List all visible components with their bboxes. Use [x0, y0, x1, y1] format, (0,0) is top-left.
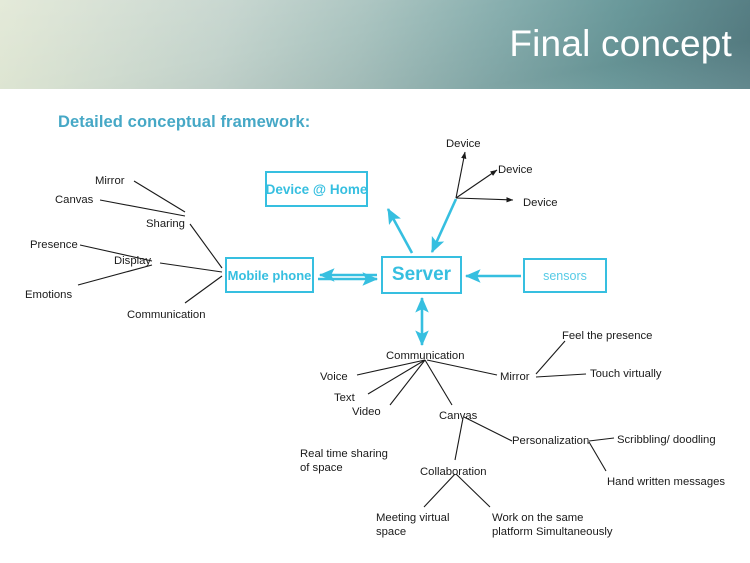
line-canvas-collab [455, 418, 463, 460]
line-display-mobile [160, 263, 222, 272]
label-voice: Voice [320, 371, 348, 385]
label-canvas-bottom: Canvas [439, 410, 477, 424]
label-communication-left: Communication [127, 309, 205, 323]
label-text: Text [334, 392, 355, 406]
label-work-same-platform: Work on the same platform Simultaneously [492, 512, 613, 539]
node-device-at-home[interactable]: Device @ Home [265, 171, 368, 207]
line-personalization-scribbling [589, 438, 614, 441]
label-display: Display [114, 255, 151, 269]
label-video: Video [352, 406, 381, 420]
label-communication-hub: Communication [386, 350, 464, 364]
arrow-devices-to-server [432, 199, 456, 252]
line-mirror-feel [536, 341, 565, 374]
line-communication-mobile [185, 276, 222, 303]
label-meeting-virtual-space: Meeting virtual space [376, 512, 449, 539]
arrow-server-to-device-home [388, 209, 412, 253]
label-presence: Presence [30, 239, 78, 253]
label-emotions: Emotions [25, 289, 72, 303]
node-server[interactable]: Server [381, 256, 462, 294]
line-device-3 [456, 198, 513, 200]
label-touch-virtually: Touch virtually [590, 368, 662, 382]
label-feel-the-presence: Feel the presence [562, 330, 652, 344]
label-device-top-3: Device [523, 197, 558, 211]
communication-branch-lines [357, 341, 614, 507]
label-real-time-sharing: Real time sharing of space [300, 448, 388, 475]
slide-canvas: Final concept Detailed conceptual framew… [0, 0, 750, 563]
label-personalization: Personalization [512, 435, 589, 449]
line-device-1 [456, 152, 465, 198]
node-sensors[interactable]: sensors [523, 258, 607, 293]
label-mirror-left: Mirror [95, 175, 125, 189]
line-comm-canvas [425, 360, 452, 405]
label-collaboration: Collaboration [420, 466, 487, 480]
label-canvas-left: Canvas [55, 194, 93, 208]
line-personalization-handwritten [589, 442, 606, 471]
label-handwritten-messages: Hand written messages [607, 476, 725, 490]
label-mirror-right: Mirror [500, 371, 530, 385]
left-branch-lines [78, 181, 222, 303]
label-sharing: Sharing [146, 218, 185, 232]
line-canvas-sharing [100, 200, 185, 216]
label-device-top-1: Device [446, 138, 481, 152]
line-sharing-mobile [190, 224, 222, 268]
line-device-2 [456, 170, 497, 198]
label-scribbling-doodling: Scribbling/ doodling [617, 434, 716, 448]
node-mobile-phone[interactable]: Mobile phone [225, 257, 314, 293]
line-comm-text [368, 360, 425, 394]
line-mirror-touch [536, 374, 586, 377]
label-device-top-2: Device [498, 164, 533, 178]
